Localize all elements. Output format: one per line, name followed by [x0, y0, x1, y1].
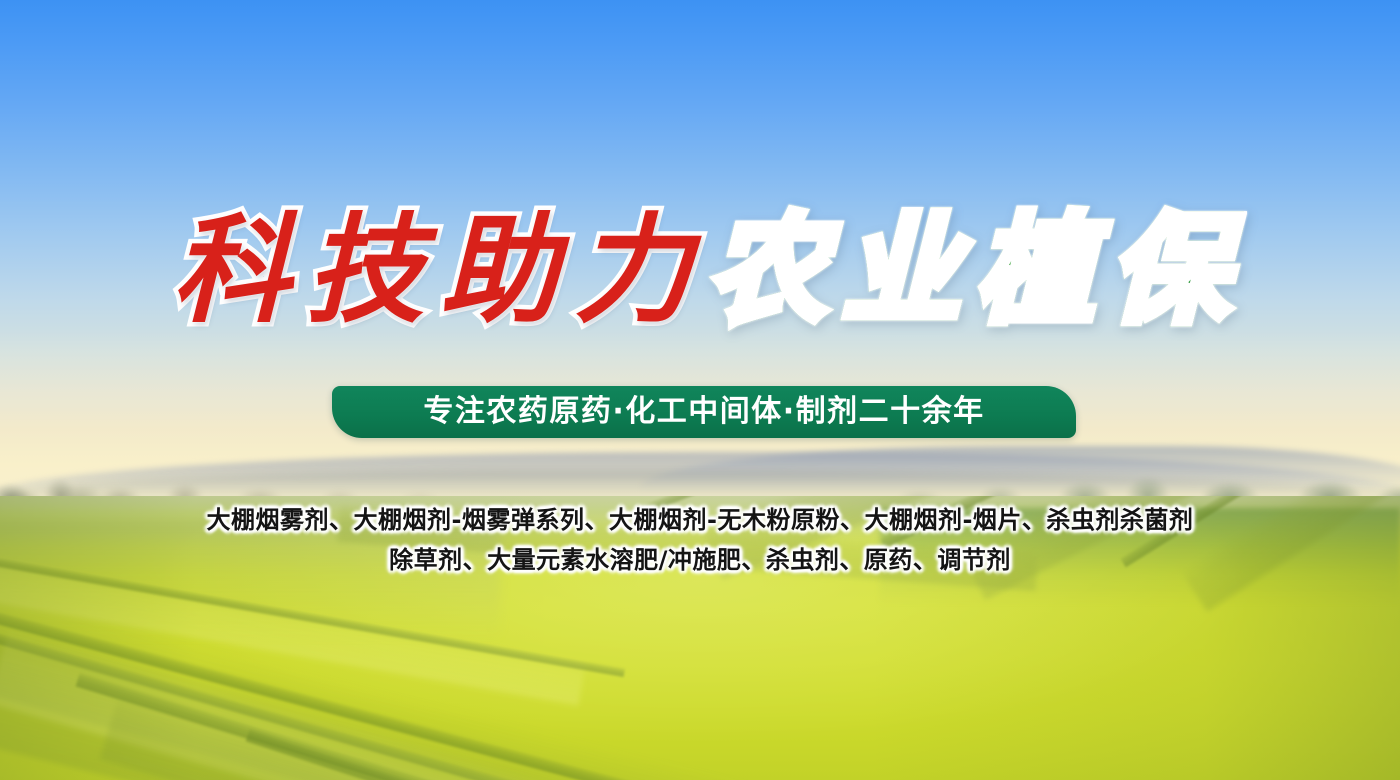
- product-line-1: 大棚烟雾剂、大棚烟剂-烟雾弹系列、大棚烟剂-无木粉原粉、大棚烟剂-烟片、杀虫剂杀…: [0, 500, 1400, 540]
- headline-segment-red: 科技助力: [172, 200, 708, 339]
- headline: 科技助力农业植保: [0, 207, 1400, 332]
- subtitle-pill-text: 专注农药原药·化工中间体·制剂二十余年: [423, 397, 984, 427]
- product-list: 大棚烟雾剂、大棚烟剂-烟雾弹系列、大棚烟剂-无木粉原粉、大棚烟剂-烟片、杀虫剂杀…: [0, 500, 1400, 580]
- product-line-2: 除草剂、大量元素水溶肥/冲施肥、杀虫剂、原药、调节剂: [0, 540, 1400, 580]
- promotional-banner: 科技助力农业植保 专注农药原药·化工中间体·制剂二十余年 大棚烟雾剂、大棚烟剂-…: [0, 0, 1400, 780]
- subtitle-pill: 专注农药原药·化工中间体·制剂二十余年: [332, 386, 1076, 438]
- headline-segment-green: 农业植保: [708, 200, 1244, 339]
- headline-text: 科技助力农业植保: [156, 207, 1244, 332]
